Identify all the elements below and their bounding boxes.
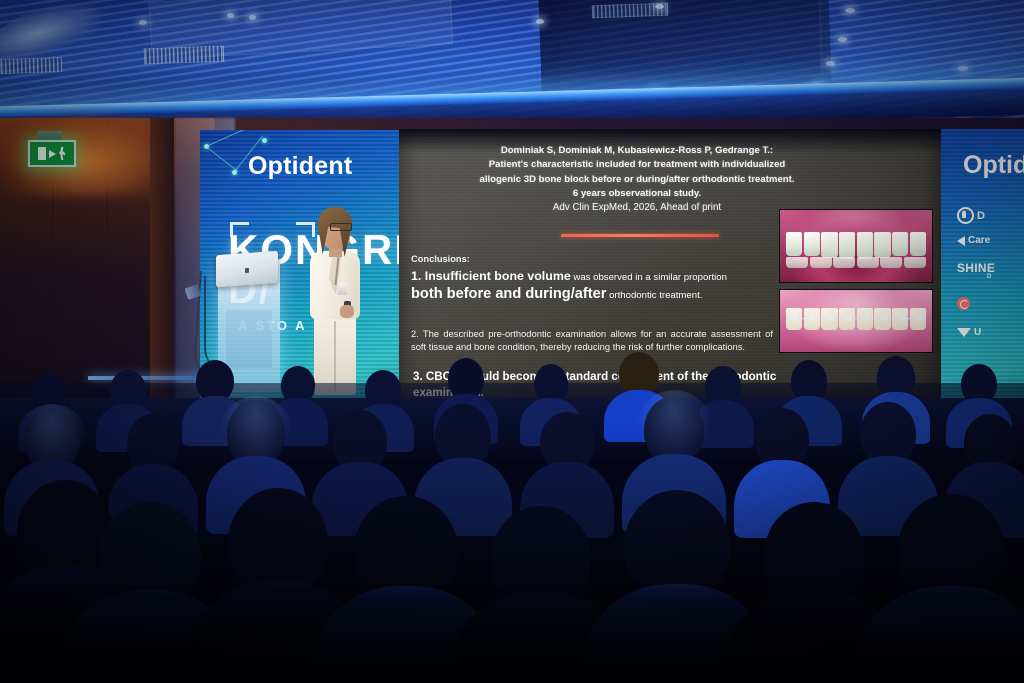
conclusion-1-tail: orthodontic treatment. — [606, 290, 702, 301]
speaker-hand — [340, 305, 354, 318]
exit-arrow-glyph — [49, 150, 56, 158]
sponsor-logo-iq: D — [957, 207, 985, 224]
exit-sign-mount — [38, 131, 62, 140]
conclusion-1-mid: was observed in a similar proportion — [571, 272, 727, 283]
conclusion-1-emphasis: both before and during/after — [411, 286, 606, 302]
ceiling-vent — [0, 57, 62, 74]
tooth — [874, 232, 890, 258]
sponsor-logo-swirl — [957, 297, 973, 310]
orthodontic-bracket — [810, 316, 815, 320]
tooth — [904, 257, 926, 268]
conclusion-1: 1. Insufficient bone volume was observed… — [411, 267, 771, 303]
tooth — [810, 257, 832, 268]
audience — [0, 330, 1024, 683]
slide-title-line-1: Dominiak S, Dominiak M, Kubasiewicz-Ross… — [439, 144, 835, 158]
ceiling-spotlight — [536, 19, 544, 24]
tooth — [804, 232, 820, 256]
laptop-logo — [245, 268, 249, 273]
tooth — [786, 232, 802, 256]
iq-ring-icon — [957, 207, 974, 224]
orthodontic-bracket — [828, 316, 833, 320]
slide-title-line-3: allogenic 3D bone block before or during… — [439, 173, 835, 187]
tooth — [857, 232, 873, 259]
orthodontic-bracket — [916, 316, 921, 320]
sponsor-sublabel-shine: D — [987, 274, 991, 280]
ceiling-spotlight — [139, 20, 147, 25]
ceiling-spotlight — [227, 13, 234, 18]
tooth — [892, 232, 908, 256]
ceiling-vent — [144, 46, 225, 65]
orthodontic-bracket — [882, 316, 887, 320]
speaker-badge — [338, 283, 347, 295]
sponsor-logo-care: Care — [957, 235, 990, 246]
slide-divider-rule — [561, 234, 719, 237]
sponsor-label: SHINE — [957, 261, 995, 275]
ceiling-spotlight — [655, 4, 664, 9]
emergency-exit-icon — [28, 140, 76, 167]
ceiling — [0, 0, 1024, 128]
tooth — [910, 232, 926, 256]
conference-photo: Optident KONGRES D/ A STO A Dominiak S, … — [0, 0, 1024, 683]
exit-door-glyph — [38, 147, 46, 160]
ceiling-spotlight — [249, 15, 256, 20]
optident-logo-left: Optident — [248, 152, 352, 181]
ceiling-spotlight — [838, 37, 847, 42]
conclusions-heading: Conclusions: — [411, 254, 470, 264]
lower-teeth-row — [786, 257, 926, 268]
network-graphic-node — [232, 170, 237, 175]
ceiling-spotlight — [958, 66, 968, 71]
sponsor-label: D — [977, 210, 985, 222]
tooth — [821, 232, 837, 258]
ceiling-spotlight — [826, 61, 835, 66]
network-graphic-node — [262, 138, 267, 143]
ceiling-shadow-wedge — [538, 0, 831, 91]
speaker-glasses — [330, 223, 352, 231]
slide-title-block: Dominiak S, Dominiak M, Kubasiewicz-Ross… — [439, 144, 835, 215]
tooth — [839, 232, 855, 259]
ceiling-spotlight — [845, 8, 855, 13]
tooth — [833, 257, 855, 268]
orthodontic-bracket — [864, 316, 869, 320]
slide-title-line-4: 6 years observational study. — [439, 187, 835, 201]
foreground-blur — [0, 583, 1024, 683]
tooth — [786, 257, 808, 268]
intraoral-photo-before — [779, 209, 933, 283]
tooth — [857, 257, 879, 268]
orthodontic-bracket — [792, 316, 797, 320]
orthodontic-bracket — [900, 316, 905, 320]
triangle-icon — [957, 236, 965, 246]
orthodontic-bracket — [846, 316, 851, 320]
tooth — [880, 257, 902, 268]
upper-teeth-row — [786, 232, 926, 256]
sponsor-label: Care — [968, 235, 990, 246]
network-graphic-node — [204, 144, 209, 149]
exit-running-man-icon — [59, 147, 66, 160]
optident-logo-right: Optident — [963, 151, 1024, 180]
sponsor-logo-shine: SHINE — [957, 261, 995, 275]
swirl-icon — [957, 297, 970, 310]
slide-title-line-2: Patient's characteristic included for tr… — [439, 158, 835, 172]
slide-reference: Adv Clin ExpMed, 2026, Ahead of print — [439, 201, 835, 215]
conclusion-1-bold: 1. Insufficient bone volume — [411, 269, 571, 283]
